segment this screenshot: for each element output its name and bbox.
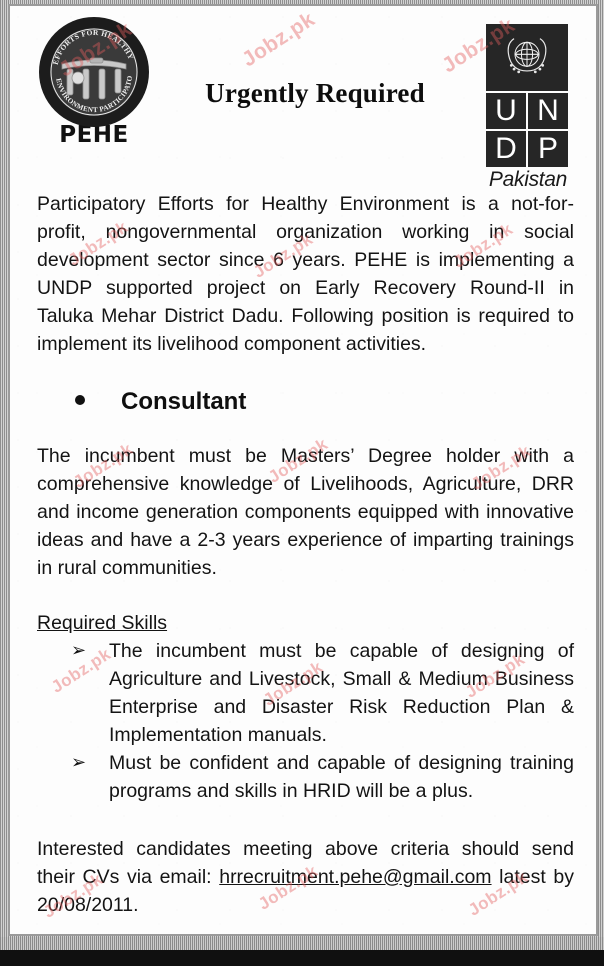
undp-letter-u: U bbox=[486, 93, 526, 129]
arrow-bullet-icon: ➢ bbox=[71, 637, 109, 665]
scan-black-band bbox=[0, 950, 604, 966]
skill-text: The incumbent must be capable of designi… bbox=[109, 637, 574, 749]
advert-header: EFFORTS FOR HEALTHY ENVIRONMENT PARTICIP… bbox=[10, 6, 596, 186]
page-border: EFFORTS FOR HEALTHY ENVIRONMENT PARTICIP… bbox=[8, 4, 598, 936]
application-email[interactable]: hrrecruitment.pehe@gmail.com bbox=[219, 866, 491, 888]
undp-letter-n: N bbox=[528, 93, 568, 129]
undp-letter-grid: U N D P bbox=[486, 93, 568, 167]
scanned-page: EFFORTS FOR HEALTHY ENVIRONMENT PARTICIP… bbox=[0, 0, 604, 966]
undp-letter-d: D bbox=[486, 131, 526, 167]
scan-bottom-edge bbox=[0, 937, 604, 950]
bullet-icon bbox=[75, 395, 85, 405]
position-heading: Consultant bbox=[37, 388, 574, 416]
required-skills-heading: Required Skills bbox=[37, 612, 167, 635]
undp-letter-p: P bbox=[528, 131, 568, 167]
arrow-bullet-icon: ➢ bbox=[71, 749, 109, 777]
page-surface: EFFORTS FOR HEALTHY ENVIRONMENT PARTICIP… bbox=[10, 6, 596, 934]
list-item: ➢ Must be confident and capable of desig… bbox=[37, 749, 574, 805]
application-paragraph: Interested candidates meeting above crit… bbox=[37, 835, 574, 919]
skill-text: Must be confident and capable of designi… bbox=[109, 749, 574, 805]
undp-country-label: Pakistan bbox=[484, 168, 572, 192]
advert-body: Participatory Efforts for Healthy Enviro… bbox=[10, 190, 596, 934]
qualification-paragraph: The incumbent must be Masters’ Degree ho… bbox=[37, 442, 574, 582]
un-emblem-icon bbox=[486, 24, 568, 91]
pehe-logo: EFFORTS FOR HEALTHY ENVIRONMENT PARTICIP… bbox=[30, 16, 158, 151]
pehe-seal-icon: EFFORTS FOR HEALTHY ENVIRONMENT PARTICIP… bbox=[38, 16, 150, 128]
intro-paragraph: Participatory Efforts for Healthy Enviro… bbox=[37, 190, 574, 358]
position-title: Consultant bbox=[121, 388, 246, 416]
list-item: ➢ The incumbent must be capable of desig… bbox=[37, 637, 574, 749]
page-title: Urgently Required bbox=[170, 78, 460, 109]
undp-logo: U N D P Pakistan bbox=[482, 24, 578, 192]
required-skills-list: ➢ The incumbent must be capable of desig… bbox=[37, 637, 574, 805]
